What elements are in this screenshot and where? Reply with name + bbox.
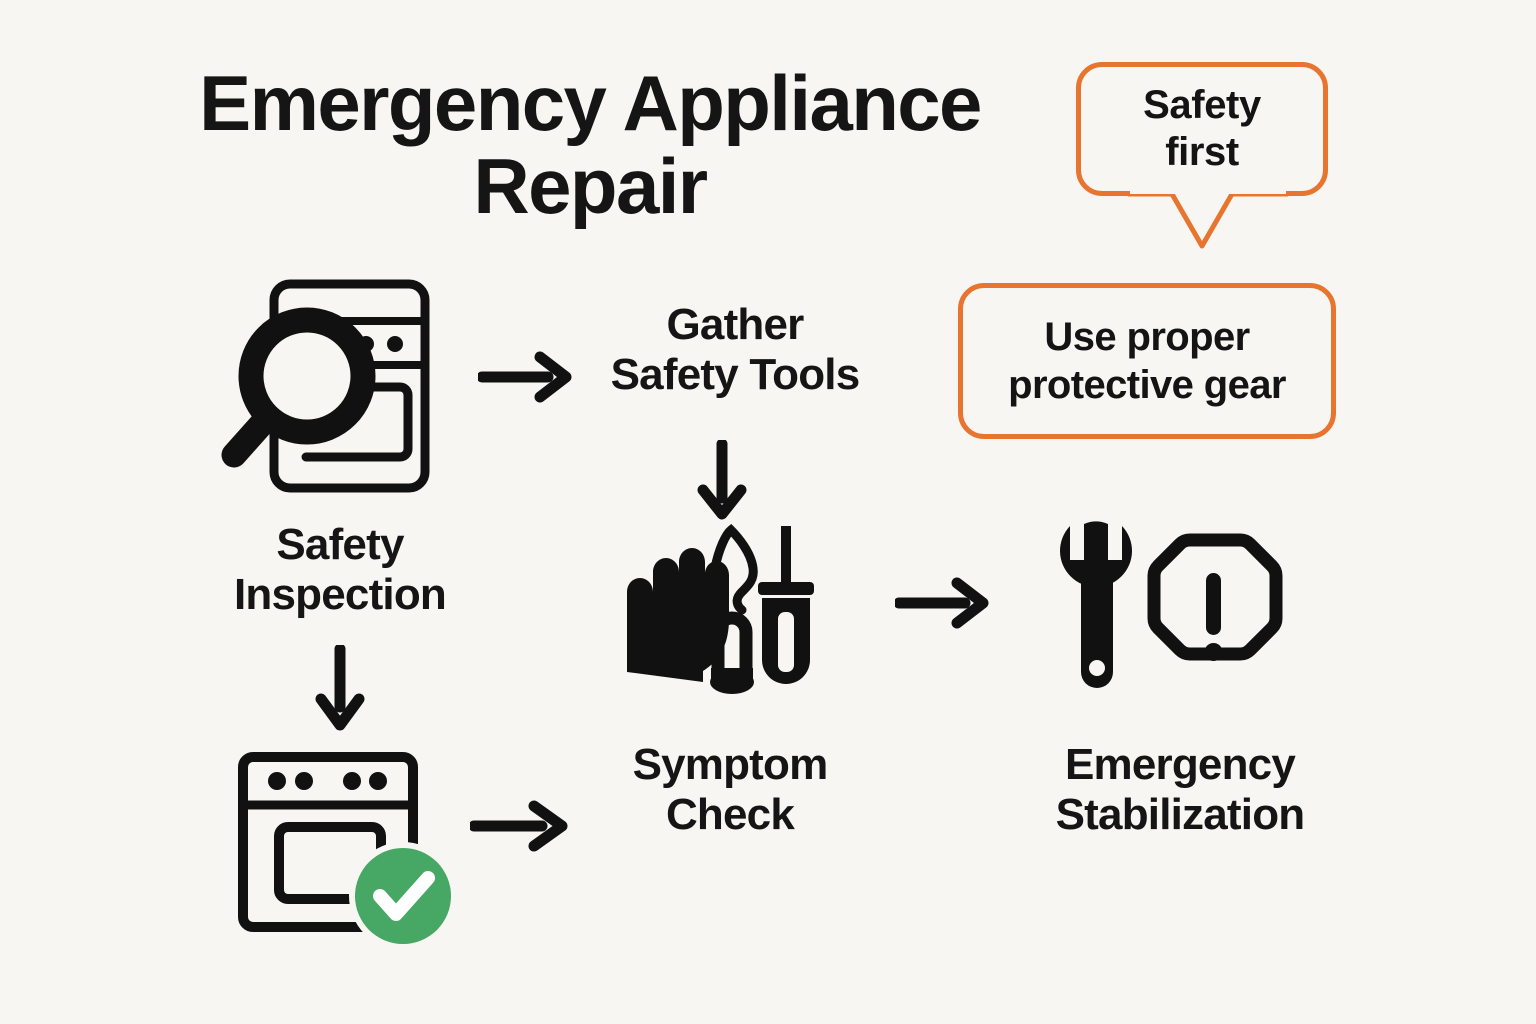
- callout-tail-icon: [1128, 188, 1288, 256]
- callout-protective-gear: Use proper protective gear: [958, 283, 1336, 439]
- step-label-safety-inspection-line-1: Safety: [150, 520, 530, 570]
- step-label-safety-inspection: Safety Inspection: [150, 520, 530, 619]
- step-label-emergency-stabilization: Emergency Stabilization: [1000, 740, 1360, 839]
- arrow-down-icon: [308, 645, 372, 731]
- step-label-gather-safety-tools-line-2: Safety Tools: [565, 350, 905, 400]
- callout-protective-gear-line-2: protective gear: [1008, 361, 1286, 409]
- step-label-emergency-stabilization-line-2: Stabilization: [1000, 790, 1360, 840]
- arrow-right-icon: [478, 345, 574, 409]
- callout-safety-first: Safety first: [1076, 62, 1328, 196]
- step-label-symptom-check-line-1: Symptom: [560, 740, 900, 790]
- infographic-canvas: Emergency Appliance Repair Safety first …: [0, 0, 1536, 1024]
- page-title: Emergency Appliance Repair: [120, 62, 1060, 229]
- step-label-symptom-check: Symptom Check: [560, 740, 900, 839]
- step-label-gather-safety-tools: Gather Safety Tools: [565, 300, 905, 399]
- step-label-safety-inspection-line-2: Inspection: [150, 570, 530, 620]
- arrow-right-icon: [470, 795, 570, 857]
- step-label-emergency-stabilization-line-1: Emergency: [1000, 740, 1360, 790]
- wrench-warning-icon: [1050, 500, 1290, 700]
- glove-tools-icon: [615, 520, 835, 700]
- step-label-symptom-check-line-2: Check: [560, 790, 900, 840]
- page-title-line-2: Repair: [120, 145, 1060, 228]
- oven-verified-icon: [235, 735, 475, 950]
- step-label-gather-safety-tools-line-1: Gather: [565, 300, 905, 350]
- appliance-magnifier-icon: [210, 275, 460, 500]
- arrow-down-icon: [690, 440, 754, 520]
- page-title-line-1: Emergency Appliance: [120, 62, 1060, 145]
- callout-safety-first-line-2: first: [1143, 129, 1261, 176]
- callout-safety-first-line-1: Safety: [1143, 82, 1261, 129]
- callout-protective-gear-line-1: Use proper: [1008, 313, 1286, 361]
- arrow-right-icon: [895, 572, 991, 634]
